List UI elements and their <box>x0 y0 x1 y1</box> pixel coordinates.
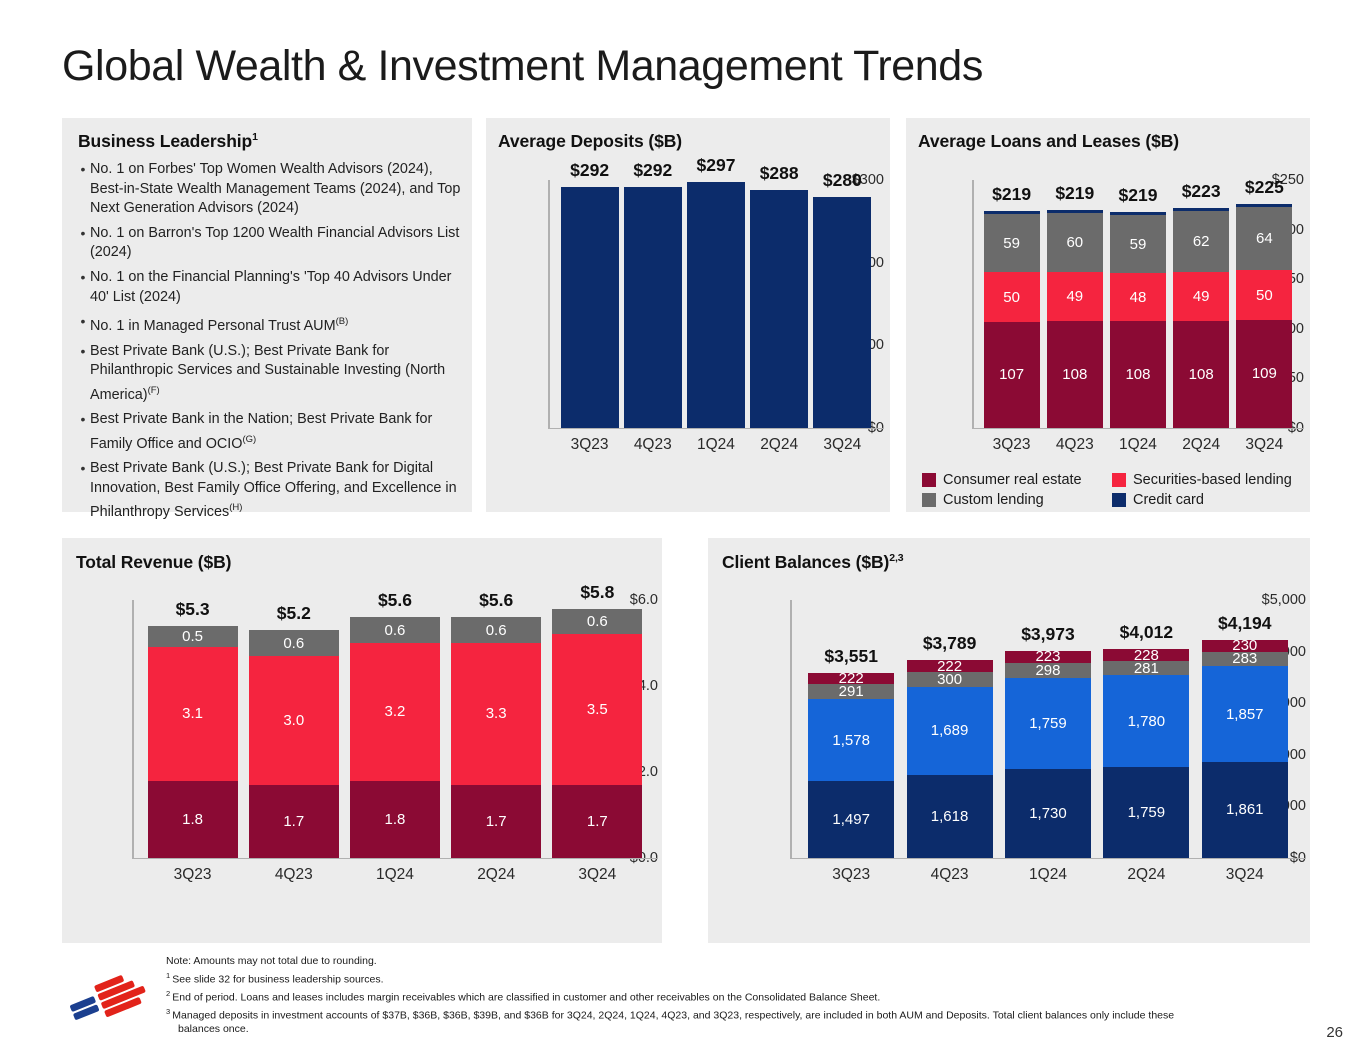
bar-total-label: $5.8 <box>539 582 656 603</box>
bar-total-label: $280 <box>805 170 880 191</box>
bar-segment-label: 49 <box>1193 289 1210 304</box>
bar-column[interactable]: 2232981,7591,730$3,973 <box>999 600 1097 858</box>
footnote-marker: 2 <box>166 989 172 998</box>
bar[interactable]: $297 <box>687 182 745 428</box>
bar-segment-label: 62 <box>1193 234 1210 249</box>
bar-segment-label: 1,759 <box>1128 805 1166 820</box>
bar-total-label: $219 <box>1038 183 1111 204</box>
x-axis-tick-label: 3Q23 <box>802 866 900 884</box>
footnotes: Note: Amounts may not total due to round… <box>166 955 1286 1036</box>
bar[interactable]: 2223001,6891,618$3,789 <box>907 660 993 858</box>
bar[interactable]: 0.53.11.8$5.3 <box>148 626 238 858</box>
bar-segment[interactable]: 49 <box>1173 272 1229 321</box>
bullet-marker-icon: • <box>76 342 90 406</box>
bar-segment-label: 50 <box>1003 290 1020 305</box>
bar-segment-label: 300 <box>937 672 962 687</box>
bar-total-label: $225 <box>1228 177 1301 198</box>
bar[interactable]: 0.63.21.8$5.6 <box>350 617 440 858</box>
bar-segment-label: 64 <box>1256 231 1273 246</box>
bar-segment[interactable] <box>624 187 682 428</box>
bar-column[interactable]: 0.63.21.8$5.6 <box>344 600 445 858</box>
bar-group: 0.53.11.8$5.30.63.01.7$5.20.63.21.8$5.60… <box>142 600 648 858</box>
footnote-marker: 3 <box>166 1007 172 1016</box>
bar-segment[interactable]: 1,861 <box>1202 762 1288 858</box>
leadership-bullet: •Best Private Bank (U.S.); Best Private … <box>76 459 468 523</box>
leadership-bullet-text: No. 1 on the Financial Planning's 'Top 4… <box>90 268 468 307</box>
bar-column[interactable]: 2302831,8571,861$4,194 <box>1196 600 1294 858</box>
bar-segment[interactable]: 50 <box>1236 270 1292 320</box>
footnote: 3 Managed deposits in investment account… <box>166 1005 1286 1023</box>
bar-segment-label: 0.5 <box>182 629 203 644</box>
bar-segment-label: 281 <box>1134 661 1159 676</box>
bar[interactable]: 0.63.51.7$5.8 <box>552 609 642 858</box>
leadership-bullet: •No. 1 on Forbes' Top Women Wealth Advis… <box>76 160 468 219</box>
bar-segment[interactable]: 62 <box>1173 211 1229 273</box>
legend-item[interactable]: Consumer real estate <box>922 472 1112 488</box>
bar-segment[interactable]: 64 <box>1236 207 1292 270</box>
bar-segment[interactable]: 1,689 <box>907 687 993 774</box>
bar-segment[interactable]: 3.0 <box>249 656 339 785</box>
bar-column[interactable]: 5950107$219 <box>980 180 1043 428</box>
legend-label: Credit card <box>1133 492 1204 508</box>
bar-segment-label: 109 <box>1252 366 1277 381</box>
bar-segment[interactable]: 109 <box>1236 320 1292 428</box>
bar-total-label: $223 <box>1165 181 1238 202</box>
bar-segment-label: 59 <box>1003 236 1020 251</box>
client-balances-panel: Client Balances ($B)2,3 $0$1,000$2,000$3… <box>708 538 1310 943</box>
page-title: Global Wealth & Investment Management Tr… <box>62 42 983 91</box>
legend-swatch-icon <box>1112 493 1126 507</box>
bar-segment[interactable]: 0.6 <box>552 609 642 635</box>
client-balances-title-text: Client Balances ($B) <box>722 552 889 572</box>
average-deposits-panel: Average Deposits ($B) $0$100$200$300$292… <box>486 118 890 512</box>
bar-segment[interactable]: 3.2 <box>350 643 440 781</box>
bar-segment[interactable]: 49 <box>1047 272 1103 321</box>
bar-segment[interactable]: 48 <box>1110 273 1166 321</box>
bar-segment[interactable]: 3.1 <box>148 647 238 780</box>
bar-segment-label: 3.0 <box>283 713 304 728</box>
bar-column[interactable]: 0.63.01.7$5.2 <box>243 600 344 858</box>
bar-segment[interactable]: 1,578 <box>808 699 894 780</box>
x-axis-tick-label: 1Q24 <box>999 866 1097 884</box>
bar-segment-label: 108 <box>1125 367 1150 382</box>
bar-column[interactable]: $292 <box>558 180 621 428</box>
bar-total-label: $5.3 <box>134 599 251 620</box>
bar-segment-label: 1,730 <box>1029 806 1067 821</box>
bar-segment-label: 60 <box>1066 235 1083 250</box>
x-axis-line <box>548 428 884 429</box>
average-loans-panel: Average Loans and Leases ($B) $0$50$100$… <box>906 118 1310 512</box>
average-loans-plot: $0$50$100$150$200$2505950107$2196049108$… <box>912 180 1304 428</box>
bar-column[interactable]: 6450109$225 <box>1233 180 1296 428</box>
bar-segment[interactable]: 1,759 <box>1103 767 1189 858</box>
bullet-marker-icon: • <box>76 459 90 523</box>
bar-column[interactable]: $292 <box>621 180 684 428</box>
bar-segment[interactable]: 1,730 <box>1005 769 1091 858</box>
bar-segment-label: 3.1 <box>182 706 203 721</box>
bar-segment-label: 291 <box>839 684 864 699</box>
bar-segment[interactable]: 1,759 <box>1005 678 1091 769</box>
average-loans-title: Average Loans and Leases ($B) <box>918 131 1179 152</box>
legend-item[interactable]: Securities-based lending <box>1112 472 1302 488</box>
bar-segment[interactable]: 223 <box>1005 651 1091 663</box>
bar[interactable]: $288 <box>750 190 808 428</box>
bar[interactable]: $280 <box>813 197 871 428</box>
bar-segment[interactable]: 300 <box>907 672 993 687</box>
bar-total-label: $219 <box>975 184 1048 205</box>
x-axis-tick-label: 1Q24 <box>344 866 445 884</box>
business-leadership-bullet-list: •No. 1 on Forbes' Top Women Wealth Advis… <box>76 160 468 528</box>
bar-segment[interactable]: 107 <box>984 322 1040 428</box>
bar-segment-label: 0.6 <box>486 623 507 638</box>
bar-segment-label: 1.8 <box>182 812 203 827</box>
bar-total-label: $5.6 <box>438 590 555 611</box>
bar-total-label: $3,551 <box>795 646 907 667</box>
bar-segment-label: 1,780 <box>1128 714 1166 729</box>
bar-total-label: $4,012 <box>1090 622 1202 643</box>
y-axis-line <box>790 600 792 858</box>
business-leadership-title-text: Business Leadership <box>78 131 252 151</box>
slide: Global Wealth & Investment Management Tr… <box>0 0 1365 1055</box>
bar-segment[interactable]: 3.5 <box>552 634 642 785</box>
y-axis-line <box>132 600 134 858</box>
bar-segment-label: 50 <box>1256 288 1273 303</box>
leadership-bullet-text: No. 1 on Barron's Top 1200 Wealth Financ… <box>90 224 468 263</box>
footnote: 1 See slide 32 for business leadership s… <box>166 969 1286 987</box>
bar-segment[interactable] <box>750 190 808 428</box>
bar[interactable]: 5950107$219 <box>984 211 1040 428</box>
bar[interactable]: 2282811,7801,759$4,012 <box>1103 649 1189 858</box>
client-balances-title: Client Balances ($B)2,3 <box>722 552 904 573</box>
leadership-bullet-superscript: (H) <box>229 502 242 513</box>
bar-segment[interactable]: 108 <box>1047 321 1103 428</box>
bar-segment[interactable]: 59 <box>1110 215 1166 274</box>
footnote: 2 End of period. Loans and leases includ… <box>166 987 1286 1005</box>
business-leadership-panel: Business Leadership1 •No. 1 on Forbes' T… <box>62 118 472 512</box>
bar-column[interactable]: 6049108$219 <box>1043 180 1106 428</box>
x-axis-tick-label: 3Q24 <box>1233 436 1296 454</box>
bar-segment[interactable]: 1,618 <box>907 775 993 858</box>
bar-segment[interactable]: 1.7 <box>552 785 642 858</box>
bar-segment[interactable]: 1.8 <box>148 781 238 858</box>
x-axis-tick-label: 1Q24 <box>684 436 747 454</box>
x-axis-tick-label: 4Q23 <box>1043 436 1106 454</box>
bar-segment-label: 0.6 <box>587 614 608 629</box>
footnote: Note: Amounts may not total due to round… <box>166 955 1286 969</box>
bar-segment[interactable]: 1,780 <box>1103 675 1189 767</box>
leadership-bullet-superscript: (B) <box>336 316 349 327</box>
leadership-bullet-superscript: (G) <box>242 434 256 445</box>
bullet-marker-icon: • <box>76 312 90 336</box>
bar-segment-label: 0.6 <box>385 623 406 638</box>
bar-segment[interactable]: 59 <box>984 214 1040 273</box>
x-axis-tick-label: 2Q24 <box>1097 866 1195 884</box>
bar-segment[interactable]: 281 <box>1103 661 1189 675</box>
bar-segment[interactable]: 298 <box>1005 663 1091 678</box>
y-axis-line <box>548 180 550 428</box>
bar-column[interactable]: $280 <box>811 180 874 428</box>
bar-segment[interactable] <box>561 187 619 428</box>
bar-segment-label: 1.7 <box>283 814 304 829</box>
x-axis-tick-labels: 3Q234Q231Q242Q243Q24 <box>558 436 874 454</box>
y-axis-line <box>972 180 974 428</box>
legend-item[interactable]: Custom lending <box>922 492 1112 508</box>
bar-segment-label: 108 <box>1062 367 1087 382</box>
bar-segment-label: 1.7 <box>587 814 608 829</box>
total-revenue-title: Total Revenue ($B) <box>76 552 231 573</box>
legend-swatch-icon <box>1112 473 1126 487</box>
average-loans-legend: Consumer real estateSecurities-based len… <box>922 472 1302 512</box>
x-axis-tick-labels: 3Q234Q231Q242Q243Q24 <box>980 436 1296 454</box>
bar-segment[interactable]: 291 <box>808 684 894 699</box>
bar-segment[interactable]: 0.5 <box>148 626 238 648</box>
bar-segment-label: 298 <box>1035 663 1060 678</box>
bar-segment[interactable]: 1,497 <box>808 781 894 858</box>
x-axis-tick-label: 4Q23 <box>900 866 998 884</box>
bar-segment-label: 0.6 <box>283 636 304 651</box>
business-leadership-title: Business Leadership1 <box>78 131 258 152</box>
x-axis-tick-label: 4Q23 <box>243 866 344 884</box>
bar-segment-label: 1.7 <box>486 814 507 829</box>
bar-segment[interactable]: 1.8 <box>350 781 440 858</box>
bar-group: 5950107$2196049108$2195948108$2196249108… <box>980 180 1296 428</box>
bar-segment[interactable]: 1.7 <box>249 785 339 858</box>
total-revenue-panel: Total Revenue ($B) $0.0$2.0$4.0$6.00.53.… <box>62 538 662 943</box>
leadership-bullet-text: Best Private Bank (U.S.); Best Private B… <box>90 342 468 406</box>
bar-column[interactable]: 0.53.11.8$5.3 <box>142 600 243 858</box>
bar-segment-label: 107 <box>999 367 1024 382</box>
bar-segment[interactable] <box>813 197 871 428</box>
leadership-bullet-text: No. 1 in Managed Personal Trust AUM(B) <box>90 312 468 336</box>
bar-segment-label: 108 <box>1189 367 1214 382</box>
bank-of-america-logo-icon <box>62 962 167 1024</box>
bar-segment-label: 283 <box>1232 651 1257 666</box>
client-balances-plot: $0$1,000$2,000$3,000$4,000$5,0002222911,… <box>716 600 1306 858</box>
leadership-bullet: •No. 1 in Managed Personal Trust AUM(B) <box>76 312 468 336</box>
page-number: 26 <box>1326 1024 1343 1041</box>
bar-column[interactable]: 2222911,5781,497$3,551 <box>802 600 900 858</box>
bar-segment[interactable]: 108 <box>1110 321 1166 428</box>
bar[interactable]: 2222911,5781,497$3,551 <box>808 673 894 858</box>
bar-segment[interactable]: 3.3 <box>451 643 541 785</box>
bar-column[interactable]: 2282811,7801,759$4,012 <box>1097 600 1195 858</box>
bar-segment-label: 1.8 <box>385 812 406 827</box>
bar[interactable]: 6049108$219 <box>1047 210 1103 428</box>
bar-segment[interactable]: 108 <box>1173 321 1229 428</box>
bullet-marker-icon: • <box>76 268 90 307</box>
bar[interactable]: 6450109$225 <box>1236 204 1292 428</box>
bar-segment-label: 1,618 <box>931 809 969 824</box>
x-axis-tick-label: 1Q24 <box>1106 436 1169 454</box>
x-axis-tick-label: 3Q24 <box>547 866 648 884</box>
x-axis-tick-label: 3Q23 <box>142 866 243 884</box>
bar-column[interactable]: 6249108$223 <box>1170 180 1233 428</box>
business-leadership-title-superscript: 1 <box>252 131 258 143</box>
bar-segment[interactable]: 60 <box>1047 213 1103 273</box>
bar-segment[interactable]: 50 <box>984 272 1040 322</box>
average-deposits-plot: $0$100$200$300$292$292$297$288$2803Q234Q… <box>492 180 884 428</box>
x-axis-tick-label: 2Q24 <box>748 436 811 454</box>
average-deposits-title: Average Deposits ($B) <box>498 131 682 152</box>
x-axis-tick-label: 3Q24 <box>1196 866 1294 884</box>
x-axis-tick-label: 2Q24 <box>1170 436 1233 454</box>
bar-total-label: $4,194 <box>1189 613 1301 634</box>
legend-swatch-icon <box>922 473 936 487</box>
bar-column[interactable]: 2223001,6891,618$3,789 <box>900 600 998 858</box>
bar-segment-label: 3.5 <box>587 702 608 717</box>
bar-total-label: $3,789 <box>894 633 1006 654</box>
leadership-bullet: •No. 1 on the Financial Planning's 'Top … <box>76 268 468 307</box>
footnote-marker: 1 <box>166 971 172 980</box>
leadership-bullet: •No. 1 on Barron's Top 1200 Wealth Finan… <box>76 224 468 263</box>
bar-segment[interactable] <box>687 182 745 428</box>
x-axis-tick-label: 2Q24 <box>446 866 547 884</box>
legend-label: Consumer real estate <box>943 472 1082 488</box>
bar[interactable]: 6249108$223 <box>1173 208 1229 428</box>
x-axis-tick-label: 4Q23 <box>621 436 684 454</box>
bar-segment-label: 1,578 <box>832 733 870 748</box>
leadership-bullet: •Best Private Bank in the Nation; Best P… <box>76 410 468 454</box>
x-axis-line <box>972 428 1304 429</box>
bar-segment[interactable]: 0.6 <box>451 617 541 643</box>
bar[interactable]: $292 <box>624 187 682 428</box>
bar-column[interactable]: 5948108$219 <box>1106 180 1169 428</box>
legend-label: Securities-based lending <box>1133 472 1292 488</box>
bar[interactable]: 0.63.01.7$5.2 <box>249 630 339 858</box>
bar-segment[interactable]: 1,857 <box>1202 666 1288 762</box>
leadership-bullet-text: No. 1 on Forbes' Top Women Wealth Adviso… <box>90 160 468 219</box>
bar-segment-label: 59 <box>1130 237 1147 252</box>
leadership-bullet-text: Best Private Bank (U.S.); Best Private B… <box>90 459 468 523</box>
bar-segment[interactable]: 0.6 <box>249 630 339 656</box>
leadership-bullet-superscript: (F) <box>148 385 160 396</box>
bar[interactable]: 2302831,8571,861$4,194 <box>1202 640 1288 858</box>
x-axis-tick-labels: 3Q234Q231Q242Q243Q24 <box>142 866 648 884</box>
bar-segment-label: 1,861 <box>1226 802 1264 817</box>
bar-segment-label: 48 <box>1130 290 1147 305</box>
legend-label: Custom lending <box>943 492 1044 508</box>
bar-segment-label: 49 <box>1066 289 1083 304</box>
x-axis-tick-labels: 3Q234Q231Q242Q243Q24 <box>802 866 1294 884</box>
bar-total-label: $219 <box>1102 185 1175 206</box>
bar-group: 2222911,5781,497$3,5512223001,6891,618$3… <box>802 600 1294 858</box>
bar-segment-label: 3.2 <box>385 704 406 719</box>
bar-total-label: $5.2 <box>235 603 352 624</box>
bar-segment[interactable]: 1.7 <box>451 785 541 858</box>
bar-column[interactable]: $297 <box>684 180 747 428</box>
x-axis-line <box>790 858 1306 859</box>
bar-segment[interactable]: 0.6 <box>350 617 440 643</box>
bar[interactable]: 2232981,7591,730$3,973 <box>1005 651 1091 858</box>
leadership-bullet-text: Best Private Bank in the Nation; Best Pr… <box>90 410 468 454</box>
bar-total-label: $5.6 <box>336 590 453 611</box>
client-balances-title-superscript: 2,3 <box>889 552 903 564</box>
bar-total-label: $3,973 <box>992 624 1104 645</box>
bullet-marker-icon: • <box>76 224 90 263</box>
bar-segment-label: 1,759 <box>1029 716 1067 731</box>
bar-group: $292$292$297$288$280 <box>558 180 874 428</box>
bar-segment-label: 1,689 <box>931 723 969 738</box>
legend-swatch-icon <box>922 493 936 507</box>
bar-segment-label: 3.3 <box>486 706 507 721</box>
bar-segment-label: 1,497 <box>832 812 870 827</box>
leadership-bullet: •Best Private Bank (U.S.); Best Private … <box>76 342 468 406</box>
bullet-marker-icon: • <box>76 410 90 454</box>
x-axis-line <box>132 858 658 859</box>
x-axis-tick-label: 3Q23 <box>980 436 1043 454</box>
bar-segment[interactable]: 283 <box>1202 652 1288 667</box>
x-axis-tick-label: 3Q24 <box>811 436 874 454</box>
footnote: balances once. <box>166 1023 1286 1037</box>
bar-column[interactable]: 0.63.51.7$5.8 <box>547 600 648 858</box>
bar-segment-label: 1,857 <box>1226 707 1264 722</box>
bullet-marker-icon: • <box>76 160 90 219</box>
bar[interactable]: 0.63.31.7$5.6 <box>451 617 541 858</box>
x-axis-tick-label: 3Q23 <box>558 436 621 454</box>
legend-item[interactable]: Credit card <box>1112 492 1302 508</box>
bar-column[interactable]: $288 <box>748 180 811 428</box>
bar[interactable]: 5948108$219 <box>1110 212 1166 428</box>
total-revenue-plot: $0.0$2.0$4.0$6.00.53.11.8$5.30.63.01.7$5… <box>70 600 658 858</box>
bar-column[interactable]: 0.63.31.7$5.6 <box>446 600 547 858</box>
bar[interactable]: $292 <box>561 187 619 428</box>
